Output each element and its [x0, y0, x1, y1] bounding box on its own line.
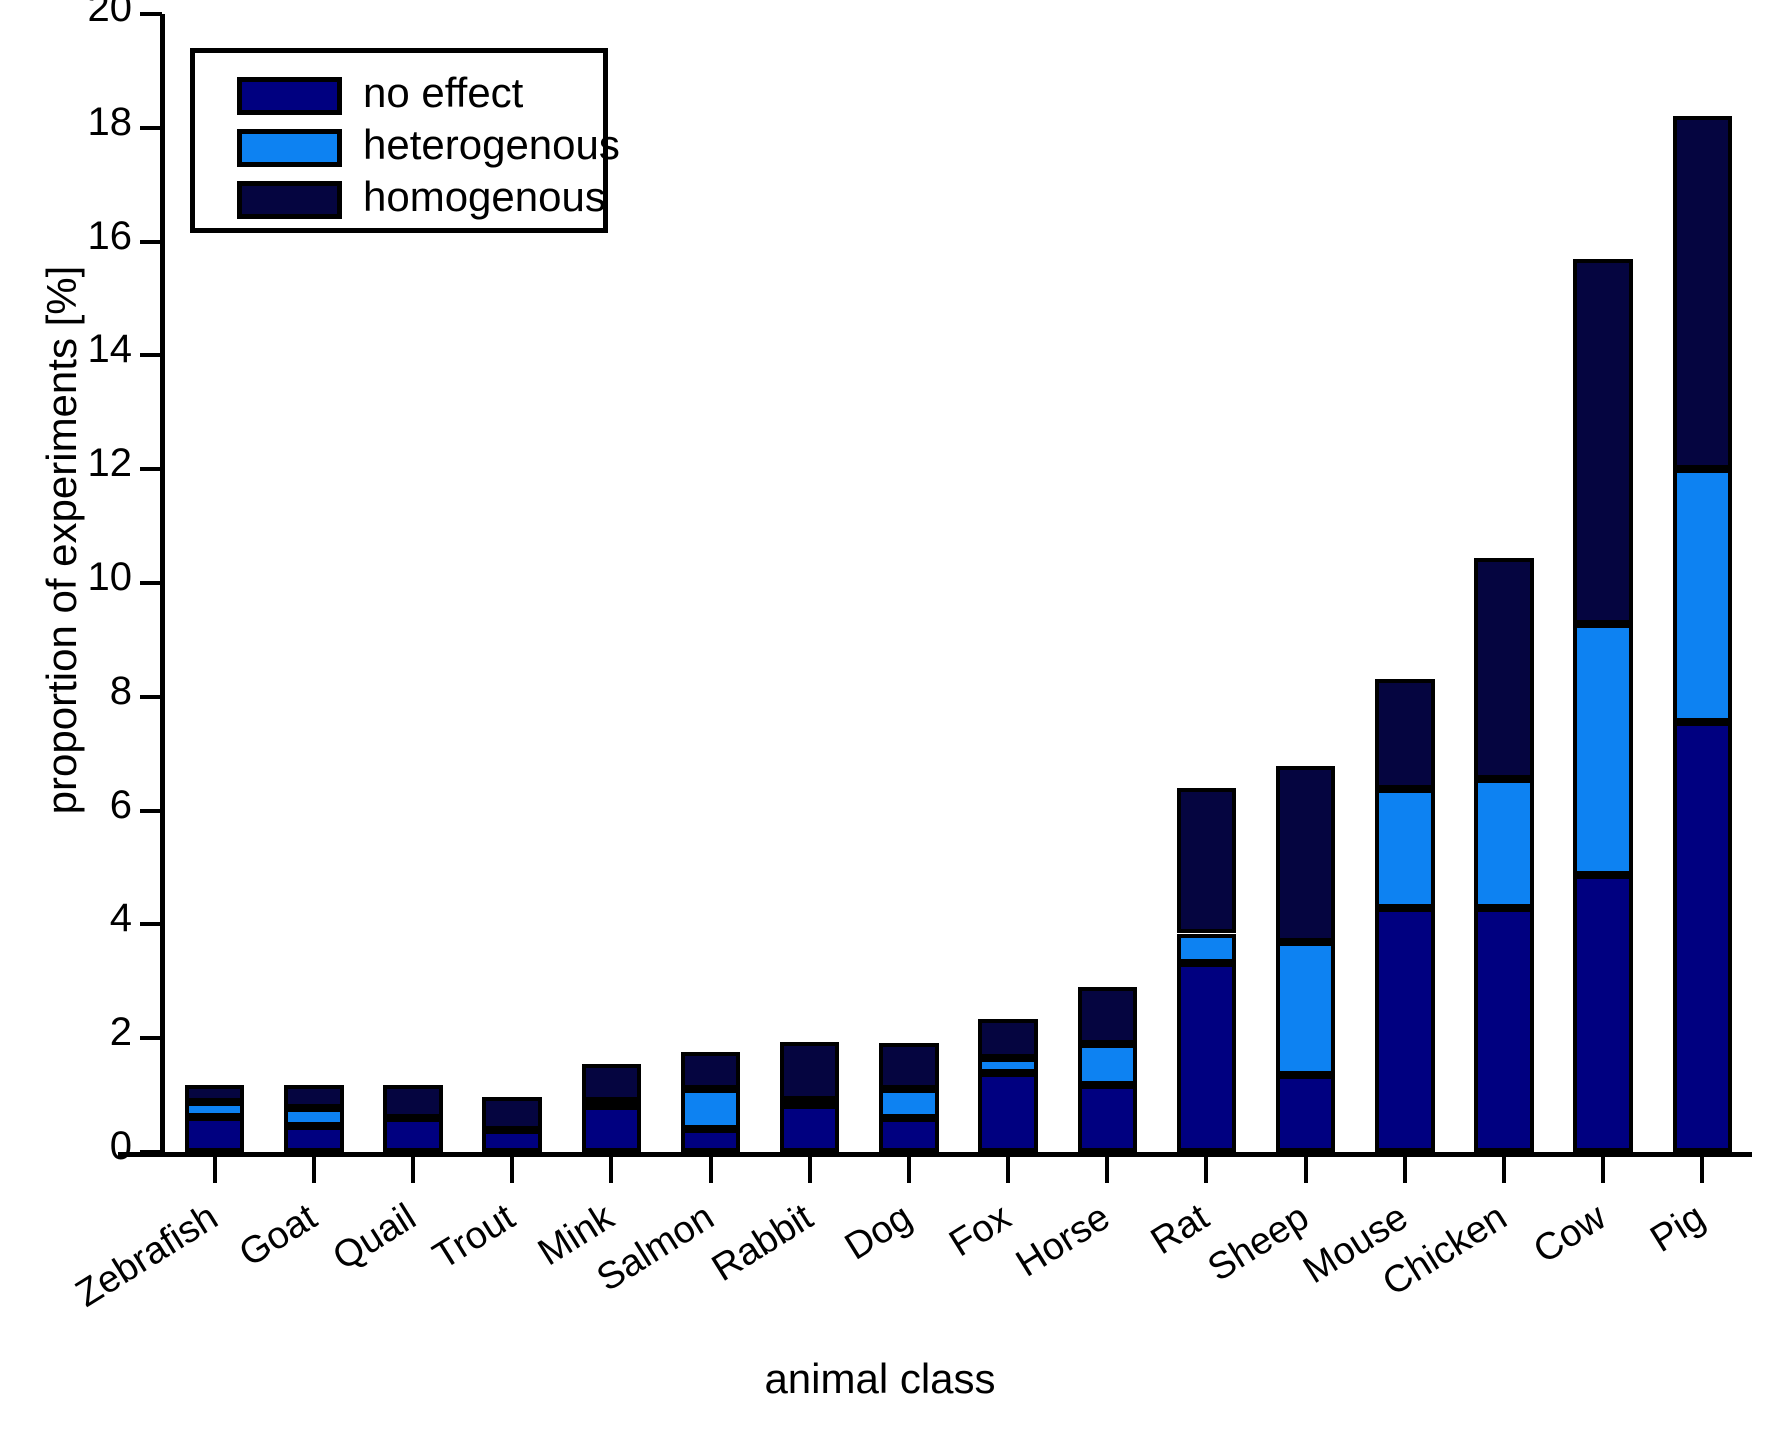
x-axis-tick: [709, 1157, 713, 1183]
bar-segment-homogenous[interactable]: [1375, 679, 1435, 789]
x-axis-tick: [411, 1157, 415, 1183]
bar-segment-no-effect[interactable]: [1474, 908, 1534, 1152]
bar-segment-homogenous[interactable]: [1673, 116, 1733, 469]
legend-label: heterogenous: [363, 121, 620, 169]
bar-segment-no-effect[interactable]: [1177, 963, 1237, 1152]
bar-segment-no-effect[interactable]: [780, 1105, 840, 1152]
bar-salmon[interactable]: [681, 14, 741, 1152]
bar-segment-heterogenous[interactable]: [185, 1102, 245, 1117]
bar-segment-no-effect[interactable]: [879, 1118, 939, 1152]
y-axis-tick: [140, 126, 162, 130]
y-axis-tick-label: 20: [12, 0, 132, 28]
bar-segment-homogenous[interactable]: [1078, 987, 1138, 1044]
legend-item-no-effect[interactable]: no effect: [195, 71, 603, 115]
bar-rat[interactable]: [1177, 14, 1237, 1152]
y-axis-tick: [140, 12, 162, 16]
bar-segment-heterogenous[interactable]: [1177, 934, 1237, 964]
bar-segment-no-effect[interactable]: [284, 1126, 344, 1152]
bar-horse[interactable]: [1078, 14, 1138, 1152]
bar-segment-no-effect[interactable]: [1573, 875, 1633, 1152]
y-axis-tick-label: 8: [12, 671, 132, 711]
chart-legend: no effectheterogenoushomogenous: [190, 48, 608, 233]
y-axis-tick: [140, 353, 162, 357]
y-axis-tick: [140, 922, 162, 926]
bar-segment-no-effect[interactable]: [383, 1118, 443, 1152]
y-axis-tick-label: 14: [12, 329, 132, 369]
x-axis-tick: [907, 1157, 911, 1183]
bar-segment-heterogenous[interactable]: [978, 1058, 1038, 1073]
x-axis-line: [118, 1152, 1752, 1157]
y-axis-tick-label: 16: [12, 216, 132, 256]
y-axis-tick-label: 4: [12, 898, 132, 938]
x-axis-tick: [1105, 1157, 1109, 1183]
y-axis-tick: [140, 240, 162, 244]
bar-segment-heterogenous[interactable]: [284, 1108, 344, 1126]
bar-segment-heterogenous[interactable]: [1474, 779, 1534, 909]
bar-segment-heterogenous[interactable]: [879, 1089, 939, 1117]
bar-segment-no-effect[interactable]: [1276, 1075, 1336, 1152]
y-axis-tick: [140, 467, 162, 471]
bar-segment-heterogenous[interactable]: [780, 1100, 840, 1108]
bar-segment-homogenous[interactable]: [582, 1064, 642, 1101]
y-axis-tick-label: 0: [12, 1126, 132, 1166]
x-axis-tick: [808, 1157, 812, 1183]
legend-swatch-icon: [237, 181, 342, 219]
bar-sheep[interactable]: [1276, 14, 1336, 1152]
legend-item-homogenous[interactable]: homogenous: [195, 175, 603, 219]
bar-segment-heterogenous[interactable]: [1276, 942, 1336, 1075]
bar-cow[interactable]: [1573, 14, 1633, 1152]
bar-segment-homogenous[interactable]: [1177, 788, 1237, 934]
y-axis-tick-label: 2: [12, 1012, 132, 1052]
bar-rabbit[interactable]: [780, 14, 840, 1152]
x-axis-title: animal class: [100, 1355, 1660, 1403]
x-axis-tick: [1304, 1157, 1308, 1183]
y-axis-tick-label: 6: [12, 785, 132, 825]
bar-segment-heterogenous[interactable]: [582, 1101, 642, 1109]
x-axis-tick: [1204, 1157, 1208, 1183]
bar-segment-homogenous[interactable]: [1573, 259, 1633, 624]
bar-fox[interactable]: [978, 14, 1038, 1152]
x-axis-tick: [312, 1157, 316, 1183]
bar-segment-heterogenous[interactable]: [1673, 469, 1733, 722]
y-axis-tick-label: 10: [12, 557, 132, 597]
bar-segment-homogenous[interactable]: [780, 1042, 840, 1100]
legend-label: no effect: [363, 69, 523, 117]
bar-segment-homogenous[interactable]: [681, 1052, 741, 1089]
legend-item-heterogenous[interactable]: heterogenous: [195, 123, 603, 167]
bar-segment-homogenous[interactable]: [482, 1097, 542, 1131]
legend-label: homogenous: [363, 173, 606, 221]
bar-segment-no-effect[interactable]: [1078, 1085, 1138, 1152]
bar-mouse[interactable]: [1375, 14, 1435, 1152]
bar-segment-homogenous[interactable]: [1474, 558, 1534, 779]
bar-segment-no-effect[interactable]: [1673, 722, 1733, 1152]
bar-segment-heterogenous[interactable]: [1375, 789, 1435, 908]
bar-segment-heterogenous[interactable]: [1573, 624, 1633, 875]
bar-chicken[interactable]: [1474, 14, 1534, 1152]
legend-swatch-icon: [237, 129, 342, 167]
y-axis-tick: [140, 695, 162, 699]
y-axis-tick: [140, 1150, 162, 1154]
x-axis-tick: [1601, 1157, 1605, 1183]
y-axis-tick-label: 12: [12, 443, 132, 483]
bar-segment-no-effect[interactable]: [681, 1129, 741, 1152]
y-axis-tick: [140, 1036, 162, 1040]
bar-segment-no-effect[interactable]: [1375, 908, 1435, 1152]
bar-segment-homogenous[interactable]: [978, 1019, 1038, 1058]
x-axis-tick: [510, 1157, 514, 1183]
x-axis-tick: [1700, 1157, 1704, 1183]
bar-segment-no-effect[interactable]: [185, 1117, 245, 1152]
bar-pig[interactable]: [1673, 14, 1733, 1152]
bar-segment-heterogenous[interactable]: [681, 1089, 741, 1129]
y-axis-tick: [140, 809, 162, 813]
bar-segment-no-effect[interactable]: [582, 1106, 642, 1152]
bar-segment-homogenous[interactable]: [284, 1085, 344, 1108]
bar-dog[interactable]: [879, 14, 939, 1152]
x-axis-tick: [1006, 1157, 1010, 1183]
y-axis-tick-label: 18: [12, 102, 132, 142]
bar-segment-homogenous[interactable]: [879, 1043, 939, 1090]
chart-figure: proportion of experiments [%] 0246810121…: [0, 0, 1772, 1425]
bar-segment-no-effect[interactable]: [978, 1073, 1038, 1152]
x-axis-tick: [1403, 1157, 1407, 1183]
legend-swatch-icon: [237, 77, 342, 115]
x-axis-tick: [609, 1157, 613, 1183]
y-axis-tick: [140, 581, 162, 585]
x-axis-tick: [213, 1157, 217, 1183]
bar-segment-homogenous[interactable]: [1276, 766, 1336, 942]
bar-segment-no-effect[interactable]: [482, 1130, 542, 1152]
x-axis-tick: [1502, 1157, 1506, 1183]
bar-segment-heterogenous[interactable]: [1078, 1044, 1138, 1086]
bar-segment-homogenous[interactable]: [383, 1085, 443, 1117]
bar-segment-homogenous[interactable]: [185, 1085, 245, 1102]
